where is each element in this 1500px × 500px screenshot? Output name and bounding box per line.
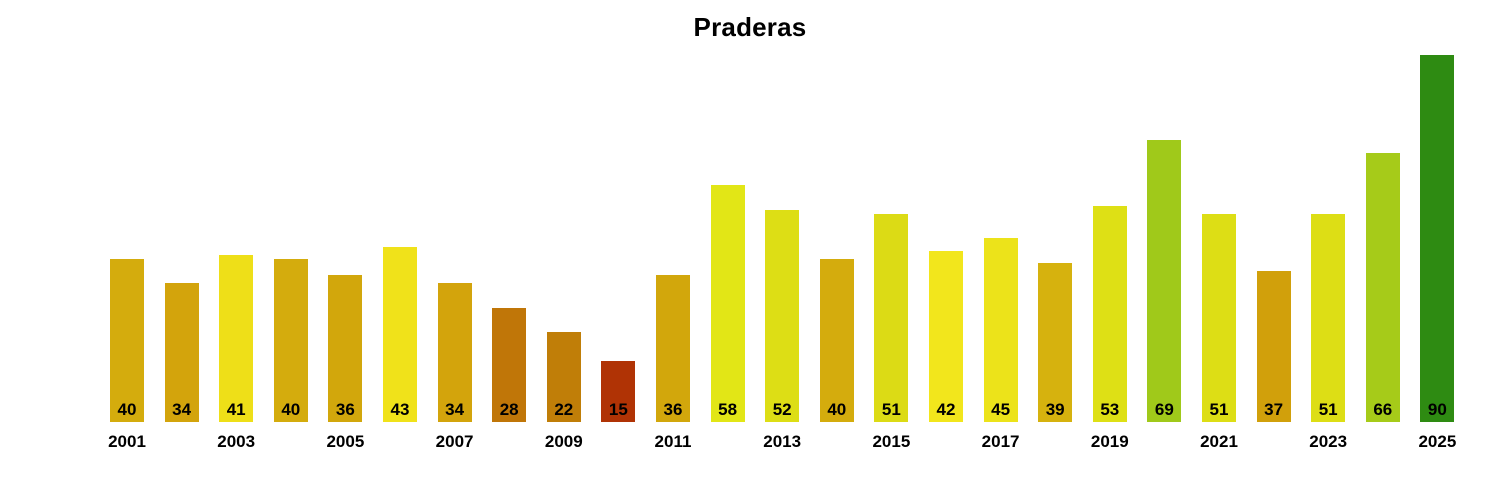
x-axis-tick-label: 2021 — [1189, 432, 1249, 452]
bar-value-label: 42 — [929, 400, 963, 420]
bar-value-label: 37 — [1257, 400, 1291, 420]
x-axis-tick-label: 2011 — [643, 432, 703, 452]
x-axis-tick-label: 2001 — [97, 432, 157, 452]
bar[interactable] — [820, 259, 854, 422]
bar-value-label: 34 — [165, 400, 199, 420]
bar[interactable] — [1366, 153, 1400, 422]
x-axis-tick-label: 2017 — [971, 432, 1031, 452]
bar-chart: Praderas 4020013441200340362005433420072… — [0, 0, 1500, 500]
bar-value-label: 45 — [984, 400, 1018, 420]
bar-value-label: 69 — [1147, 400, 1181, 420]
bar[interactable] — [711, 185, 745, 422]
bar[interactable] — [765, 210, 799, 422]
bar[interactable] — [874, 214, 908, 422]
x-axis-tick-label: 2007 — [425, 432, 485, 452]
bar-value-label: 51 — [1202, 400, 1236, 420]
bar[interactable] — [1038, 263, 1072, 422]
x-axis-tick-label: 2023 — [1298, 432, 1358, 452]
bar-value-label: 15 — [601, 400, 635, 420]
bar-value-label: 36 — [328, 400, 362, 420]
bar-value-label: 40 — [274, 400, 308, 420]
bar[interactable] — [110, 259, 144, 422]
bar[interactable] — [1311, 214, 1345, 422]
bar-value-label: 22 — [547, 400, 581, 420]
x-axis-tick-label: 2005 — [315, 432, 375, 452]
x-axis-tick-label: 2015 — [861, 432, 921, 452]
bar-value-label: 51 — [1311, 400, 1345, 420]
bar[interactable] — [929, 251, 963, 422]
x-axis-tick-label: 2009 — [534, 432, 594, 452]
bar-value-label: 36 — [656, 400, 690, 420]
x-axis-tick-label: 2013 — [752, 432, 812, 452]
bar[interactable] — [1147, 140, 1181, 422]
bar-value-label: 90 — [1420, 400, 1454, 420]
bar-value-label: 58 — [711, 400, 745, 420]
bar-value-label: 41 — [219, 400, 253, 420]
plot-area: 4020013441200340362005433420072822200915… — [0, 0, 1500, 500]
bar[interactable] — [383, 247, 417, 422]
bar-value-label: 39 — [1038, 400, 1072, 420]
bar-value-label: 43 — [383, 400, 417, 420]
bar-value-label: 51 — [874, 400, 908, 420]
bar[interactable] — [1093, 206, 1127, 422]
bar-value-label: 40 — [110, 400, 144, 420]
bar-value-label: 66 — [1366, 400, 1400, 420]
bar-value-label: 53 — [1093, 400, 1127, 420]
bar-value-label: 40 — [820, 400, 854, 420]
x-axis-tick-label: 2003 — [206, 432, 266, 452]
bar[interactable] — [219, 255, 253, 422]
bar[interactable] — [274, 259, 308, 422]
x-axis-tick-label: 2025 — [1407, 432, 1467, 452]
bar-value-label: 34 — [438, 400, 472, 420]
bar[interactable] — [1202, 214, 1236, 422]
bar[interactable] — [1420, 55, 1454, 422]
x-axis-tick-label: 2019 — [1080, 432, 1140, 452]
bar[interactable] — [984, 238, 1018, 422]
bar-value-label: 28 — [492, 400, 526, 420]
bar-value-label: 52 — [765, 400, 799, 420]
